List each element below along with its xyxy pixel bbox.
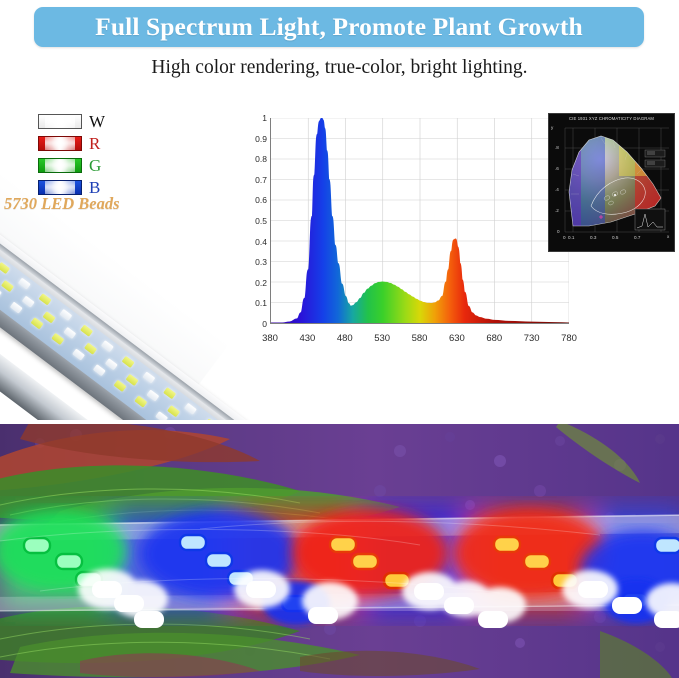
chart-ytick-7: 0.7 xyxy=(249,175,267,185)
chart-xtick-5: 630 xyxy=(443,330,471,344)
legend-label-green: G xyxy=(89,157,101,174)
led-chip xyxy=(84,343,97,355)
led-chip xyxy=(72,348,85,360)
cie-title: CIE 1931 XYZ CHROMATICITY DIAGRAM xyxy=(549,116,674,121)
legend-item-green: G xyxy=(38,156,148,174)
led-chip xyxy=(80,325,93,337)
cie-ytick-4: .4 xyxy=(555,187,559,192)
cie-x-axis-label: x xyxy=(667,234,669,239)
led-chip xyxy=(18,278,31,290)
legend-label-blue: B xyxy=(89,179,100,196)
cie-ytick-2: .2 xyxy=(555,208,559,213)
chart-xtick-8: 780 xyxy=(555,330,583,344)
led-chip xyxy=(126,374,139,386)
led-chip xyxy=(184,403,197,415)
led-chip xyxy=(22,296,35,308)
led-chip xyxy=(163,387,176,399)
chart-ytick-5: 0.5 xyxy=(249,216,267,226)
led-chip xyxy=(142,371,155,383)
chart-xtick-6: 680 xyxy=(480,330,508,344)
led-chip xyxy=(0,262,10,274)
led-chip xyxy=(0,286,2,298)
led-chip xyxy=(43,311,56,323)
chart-ytick-2: 0.2 xyxy=(249,278,267,288)
cie-xtick-5: 0.5 xyxy=(612,235,618,240)
cie-xtick-1: 0.1 xyxy=(568,235,574,240)
page-title: Full Spectrum Light, Promote Plant Growt… xyxy=(95,12,583,42)
chart-ytick-10: 1 xyxy=(249,113,267,123)
led-beads-caption: 5730 LED Beads xyxy=(4,194,144,214)
chart-ytick-3: 0.3 xyxy=(249,257,267,267)
chart-xtick-0: 380 xyxy=(256,330,284,344)
chart-ytick-6: 0.6 xyxy=(249,195,267,205)
chart-xtick-4: 580 xyxy=(406,330,434,344)
cie-xtick-3: 0.3 xyxy=(590,235,596,240)
led-chip xyxy=(10,302,23,314)
cie-y-axis-label: y xyxy=(551,125,553,130)
chart-plot-area xyxy=(270,118,569,324)
chart-xtick-3: 530 xyxy=(368,330,396,344)
legend-label-white: W xyxy=(89,113,105,130)
led-color-legend: W R G B xyxy=(38,112,148,200)
led-chip xyxy=(134,395,147,407)
cie-ytick-6: .6 xyxy=(555,166,559,171)
chart-ytick-8: 0.8 xyxy=(249,154,267,164)
legend-item-red: R xyxy=(38,134,148,152)
product-feature-page: Full Spectrum Light, Promote Plant Growt… xyxy=(0,0,679,678)
red-led-swatch-icon xyxy=(38,136,82,151)
header-banner: Full Spectrum Light, Promote Plant Growt… xyxy=(34,7,644,47)
chart-ytick-9: 0.9 xyxy=(249,134,267,144)
led-chip xyxy=(155,411,168,420)
led-chip xyxy=(39,293,52,305)
cie-ytick-0: 0 xyxy=(557,229,560,234)
spectrum-curve xyxy=(271,118,569,323)
led-chip xyxy=(93,364,106,376)
led-chip xyxy=(1,280,14,292)
led-chip xyxy=(59,309,72,321)
cie-chromaticity-inset: CIE 1931 XYZ CHROMATICITY DIAGRAM y 0 .2… xyxy=(548,113,675,252)
led-chip xyxy=(63,327,76,339)
cie-diagram xyxy=(549,114,674,251)
legend-item-white: W xyxy=(38,112,148,130)
led-chip xyxy=(205,418,218,420)
cie-xtick-0: 0 xyxy=(563,235,566,240)
chart-xtick-1: 430 xyxy=(293,330,321,344)
blue-led-swatch-icon xyxy=(38,180,82,195)
chart-xtick-7: 730 xyxy=(518,330,546,344)
aquarium-scene xyxy=(0,421,679,678)
chart-ytick-4: 0.4 xyxy=(249,237,267,247)
cie-xtick-7: 0.7 xyxy=(634,235,640,240)
aquarium-light-photo xyxy=(0,421,679,678)
chart-xtick-2: 480 xyxy=(331,330,359,344)
legend-label-red: R xyxy=(89,135,100,152)
led-chip xyxy=(51,333,64,345)
spectrum-chart: 00.10.20.30.40.50.60.70.80.9138043048053… xyxy=(249,112,571,352)
led-chip xyxy=(101,340,114,352)
chart-ytick-1: 0.1 xyxy=(249,298,267,308)
led-chip xyxy=(31,317,44,329)
led-chip xyxy=(105,358,118,370)
white-led-swatch-icon xyxy=(38,114,82,129)
subtitle: High color rendering, true-color, bright… xyxy=(0,57,679,79)
led-chip xyxy=(114,380,127,392)
cie-ytick-8: .8 xyxy=(555,145,559,150)
led-chip xyxy=(167,405,180,417)
led-chip xyxy=(122,356,135,368)
led-chip xyxy=(146,389,159,401)
chart-ytick-0: 0 xyxy=(249,319,267,329)
green-led-swatch-icon xyxy=(38,158,82,173)
